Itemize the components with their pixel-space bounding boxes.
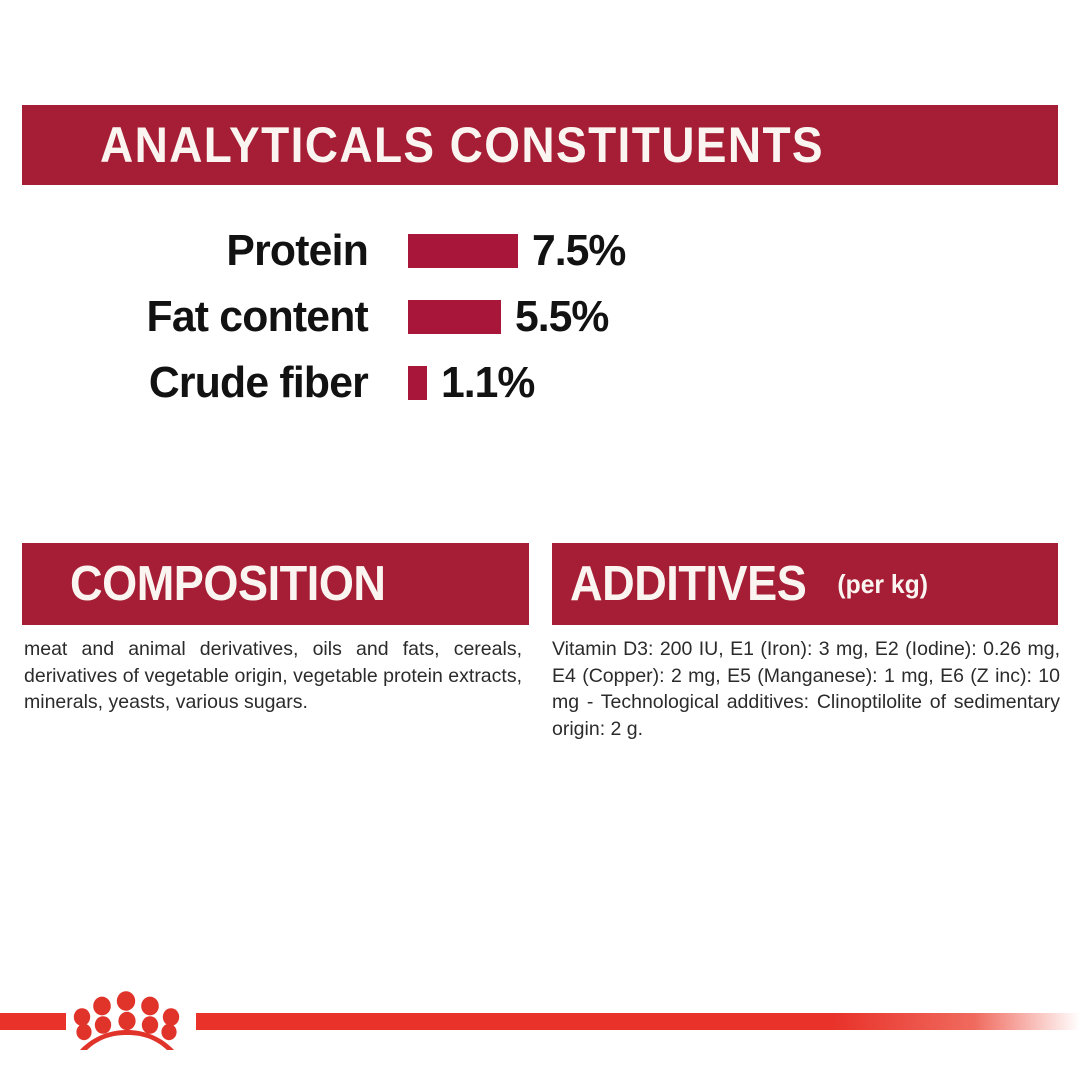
constituent-value-fat-content: 5.5% <box>515 284 608 350</box>
constituent-value-protein: 7.5% <box>532 218 625 284</box>
additives-header-band: ADDITIVES (per kg) <box>552 543 1058 625</box>
footer-rule-right <box>196 1013 1080 1030</box>
constituent-bar-protein <box>408 234 518 268</box>
analyticals-header-band: ANALYTICALS CONSTITUENTS <box>22 105 1058 185</box>
table-row: Fat content 5.5% <box>0 284 1080 350</box>
constituent-label-crude-fiber: Crude fiber <box>11 350 368 416</box>
royal-canin-crown-logo <box>72 986 184 1052</box>
constituent-bar-crude-fiber-wrap <box>408 366 427 400</box>
constituent-bar-fat-content <box>408 300 501 334</box>
additives-heading: ADDITIVES <box>570 556 806 612</box>
constituent-bar-crude-fiber <box>408 366 427 400</box>
table-row: Crude fiber 1.1% <box>0 350 1080 416</box>
table-row: Protein 7.5% <box>0 218 1080 284</box>
composition-body-text: meat and animal derivatives, oils and fa… <box>24 636 522 716</box>
composition-heading: COMPOSITION <box>70 556 386 612</box>
composition-header-band: COMPOSITION <box>22 543 529 625</box>
constituent-label-protein: Protein <box>11 218 368 284</box>
constituent-label-fat-content: Fat content <box>11 284 368 350</box>
constituent-value-crude-fiber: 1.1% <box>441 350 534 416</box>
nutrition-label-page: ANALYTICALS CONSTITUENTS Protein 7.5% Fa… <box>0 0 1080 1080</box>
analyticals-constituents-list: Protein 7.5% Fat content 5.5% Crude fibe… <box>0 218 1080 416</box>
additives-subheading: (per kg) <box>837 569 928 600</box>
additives-body-text: Vitamin D3: 200 IU, E1 (Iron): 3 mg, E2 … <box>552 636 1060 742</box>
footer-rule-left <box>0 1013 66 1030</box>
constituent-bar-protein-wrap <box>408 234 518 268</box>
analyticals-heading: ANALYTICALS CONSTITUENTS <box>100 116 824 174</box>
constituent-bar-fat-content-wrap <box>408 300 501 334</box>
